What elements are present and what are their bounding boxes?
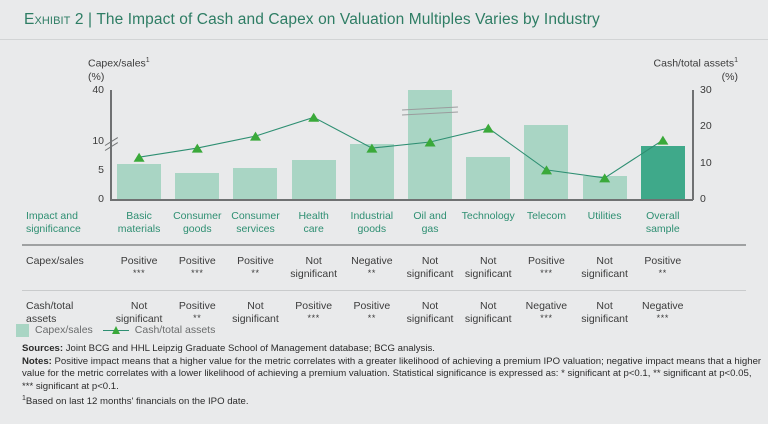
table-row: Capex/salesPositive***Positive***Positiv… [0,246,768,290]
legend-bar-swatch-icon [16,324,29,337]
significance-stars: ** [228,268,282,278]
impact-line-1: Not [422,255,438,267]
significance-stars: ** [636,268,690,278]
cell-capex-sales-overall-sample: Positive** [634,255,692,281]
impact-line-2: significant [290,268,337,280]
impact-value: Positive [528,255,565,267]
legend-label-cash-total-assets: Cash/total assets [135,324,216,336]
impact-value: Positive [237,255,274,267]
right-axis-tick-20: 20 [700,121,726,132]
footnote-sources-text: Joint BCG and HHL Leipzig Graduate Schoo… [66,343,435,354]
category-line-2: goods [358,223,387,235]
cell-capex-sales-utilities: Notsignificant [576,255,634,281]
line-series-layer [110,90,692,199]
category-line-1: Technology [462,210,515,222]
impact-value: Negative [526,300,567,312]
category-line-1: Basic [126,210,152,222]
exhibit-label: Exhibit 2 [24,11,84,28]
footnote-sources-label: Sources: [22,343,63,354]
table-header-consumer-services: Consumerservices [226,210,284,236]
impact-line-2: significant [407,268,454,280]
left-axis-title: Capex/sales1 (%) [88,54,150,84]
category-line-2: sample [646,223,680,235]
category-line-1: Overall [646,210,679,222]
legend-item-capex-sales: Capex/sales [16,324,93,337]
footnote-one: 1Based on last 12 months' financials on … [22,393,762,409]
legend-line-marker-icon [103,324,129,336]
right-axis-line [692,90,694,200]
cell-capex-sales-industrial-goods: Negative** [343,255,401,281]
right-axis-unit: (%) [722,71,738,83]
significance-stars: *** [170,268,224,278]
category-line-2: goods [183,223,212,235]
page-title: Exhibit 2 | The Impact of Cash and Capex… [24,11,600,29]
impact-line-2: significant [581,268,628,280]
title-main: The Impact of Cash and Capex on Valuatio… [96,11,600,28]
impact-value: Negative [351,255,392,267]
table-header-health-care: Healthcare [285,210,343,236]
footnote-notes: Notes: Positive impact means that a high… [22,356,762,394]
table-header-utilities: Utilities [576,210,634,236]
footnote-notes-text: Positive impact means that a higher valu… [22,356,761,392]
impact-value: Positive [179,255,216,267]
cell-capex-sales-technology: Notsignificant [459,255,517,281]
right-axis-title-text: Cash/total assets [654,58,735,70]
line-marker-basic-materials [134,153,145,162]
category-line-1: Consumer [231,210,279,222]
impact-line-1: Not [305,255,321,267]
category-line-2: gas [422,223,439,235]
footnote-sources: Sources: Joint BCG and HHL Leipzig Gradu… [22,343,762,356]
impact-line-2: significant [465,268,512,280]
category-line-2: care [303,223,323,235]
category-line-1: Consumer [173,210,221,222]
impact-line-1: Not [596,255,612,267]
category-line-1: Utilities [588,210,622,222]
impact-value: Negative [642,300,683,312]
left-axis-unit: (%) [88,71,104,83]
table-header-row: Impact andsignificanceBasicmaterialsCons… [0,200,768,244]
impact-line-1: Not [131,300,147,312]
category-line-2: materials [118,223,161,235]
category-line-1: Telecom [527,210,566,222]
footnote-one-text: Based on last 12 months' financials on t… [26,397,249,408]
table-header-consumer-goods: Consumergoods [168,210,226,236]
line-marker-consumer-goods [192,144,203,153]
category-line-1: Health [298,210,328,222]
header-line-1: Impact and [26,210,78,222]
legend-label-capex-sales: Capex/sales [35,324,93,336]
impact-line-1: Not [480,255,496,267]
left-axis-footnote-marker: 1 [146,57,150,64]
impact-line-1: Not [422,300,438,312]
category-line-1: Oil and [413,210,446,222]
cell-capex-sales-consumer-services: Positive** [226,255,284,281]
impact-value: Positive [353,300,390,312]
impact-line-1: Not [480,300,496,312]
header-line-2: significance [26,223,81,235]
row-label-line-1: Cash/total [26,300,73,312]
impact-line-1: Not [247,300,263,312]
category-line-2: services [236,223,275,235]
table-header-telecom: Telecom [517,210,575,236]
table-header-technology: Technology [459,210,517,236]
line-marker-consumer-services [250,132,261,141]
chart-legend: Capex/sales Cash/total assets [0,320,768,340]
impact-value: Positive [644,255,681,267]
line-marker-health-care [308,113,319,122]
right-axis-footnote-marker: 1 [734,57,738,64]
significance-stars: *** [112,268,166,278]
impact-value: Positive [295,300,332,312]
cell-capex-sales-health-care: Notsignificant [285,255,343,281]
category-line-1: Industrial [351,210,394,222]
row-label-line-1: Capex/sales [26,255,84,267]
right-axis-tick-10: 10 [700,158,726,169]
exhibit-header: Exhibit 2 | The Impact of Cash and Capex… [0,0,768,40]
right-axis-title: Cash/total assets1 (%) [654,54,738,84]
left-axis-title-text: Capex/sales [88,58,146,70]
footnote-notes-label: Notes: [22,356,52,367]
cell-capex-sales-telecom: Positive*** [517,255,575,281]
line-path [139,117,663,178]
legend-item-cash-total-assets: Cash/total assets [103,324,216,336]
row-label-capex-sales: Capex/sales [0,255,110,281]
table-header-oil-and-gas: Oil andgas [401,210,459,236]
left-axis-tick-5: 5 [78,165,104,176]
table-header-basic-materials: Basicmaterials [110,210,168,236]
left-axis-tick-10: 10 [78,136,104,147]
table-header-industrial-goods: Industrialgoods [343,210,401,236]
table-header-overall-sample: Overallsample [634,210,692,236]
left-axis-tick-40: 40 [78,85,104,96]
impact-value: Positive [179,300,216,312]
right-axis-tick-30: 30 [700,85,726,96]
chart-plot-area: Capex/sales1 (%) Cash/total assets1 (%) … [0,40,768,215]
footnotes: Sources: Joint BCG and HHL Leipzig Gradu… [22,343,762,409]
line-marker-technology [483,124,494,133]
cell-capex-sales-consumer-goods: Positive*** [168,255,226,281]
significance-stars: *** [519,268,573,278]
table-header-impact-significance: Impact andsignificance [0,210,110,236]
line-marker-overall-sample [657,136,668,145]
significance-table: Impact andsignificanceBasicmaterialsCons… [0,200,768,335]
cell-capex-sales-oil-and-gas: Notsignificant [401,255,459,281]
impact-value: Positive [121,255,158,267]
cell-capex-sales-basic-materials: Positive*** [110,255,168,281]
significance-stars: ** [345,268,399,278]
impact-line-1: Not [596,300,612,312]
title-separator: | [88,11,92,28]
exhibit-root: Exhibit 2 | The Impact of Cash and Capex… [0,0,768,424]
